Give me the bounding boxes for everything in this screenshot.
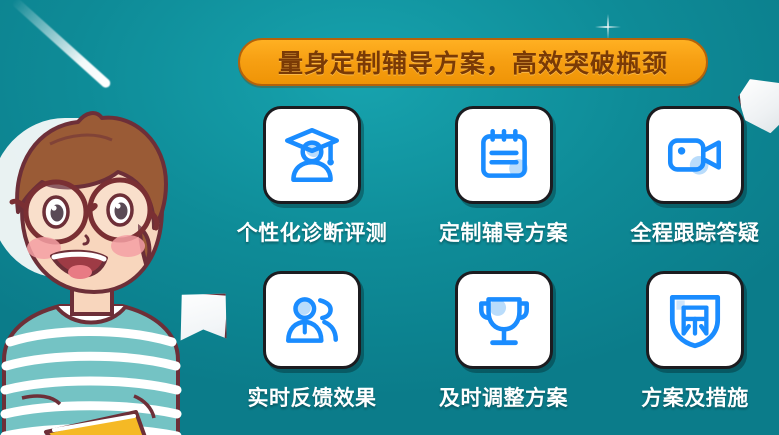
icon-card[interactable]: [455, 271, 553, 369]
feature-label: 实时反馈效果: [248, 382, 377, 412]
feature-label: 及时调整方案: [439, 382, 568, 412]
feature-item-adjust[interactable]: 及时调整方案: [420, 271, 588, 426]
video-camera-icon: [662, 122, 728, 188]
headline-banner: 量身定制辅导方案，高效突破瓶颈: [238, 38, 708, 86]
notepad-icon: [471, 122, 537, 188]
trophy-icon: [471, 287, 537, 353]
feature-label: 全程跟踪答疑: [631, 217, 760, 247]
poster-canvas: 量身定制辅导方案，高效突破瓶颈 个性化诊断评测: [0, 0, 779, 435]
feature-row-2: 实时反馈效果 及时调整方案: [228, 271, 779, 426]
graduation-student-icon: [279, 122, 345, 188]
shield-quality-icon: [662, 287, 728, 353]
sparkle-star-icon: [595, 14, 621, 40]
icon-card[interactable]: [263, 106, 361, 204]
feature-item-feedback[interactable]: 实时反馈效果: [228, 271, 396, 426]
cartoon-boy-illustration: [0, 60, 234, 435]
feature-label: 定制辅导方案: [439, 217, 568, 247]
feature-label: 个性化诊断评测: [237, 217, 388, 247]
feature-grid: 个性化诊断评测 定制辅导方案: [228, 106, 779, 426]
headline-text: 量身定制辅导方案，高效突破瓶颈: [278, 44, 668, 80]
icon-card[interactable]: [646, 271, 744, 369]
icon-card[interactable]: [263, 271, 361, 369]
shooting-star-icon: [14, 0, 124, 58]
two-users-icon: [279, 287, 345, 353]
feature-item-diagnostic[interactable]: 个性化诊断评测: [228, 106, 396, 261]
feature-item-measures[interactable]: 方案及措施: [611, 271, 779, 426]
feature-label: 方案及措施: [641, 382, 749, 412]
feature-item-tracking[interactable]: 全程跟踪答疑: [611, 106, 779, 261]
icon-card[interactable]: [455, 106, 553, 204]
feature-row-1: 个性化诊断评测 定制辅导方案: [228, 106, 779, 261]
feature-item-plan[interactable]: 定制辅导方案: [420, 106, 588, 261]
icon-card[interactable]: [646, 106, 744, 204]
